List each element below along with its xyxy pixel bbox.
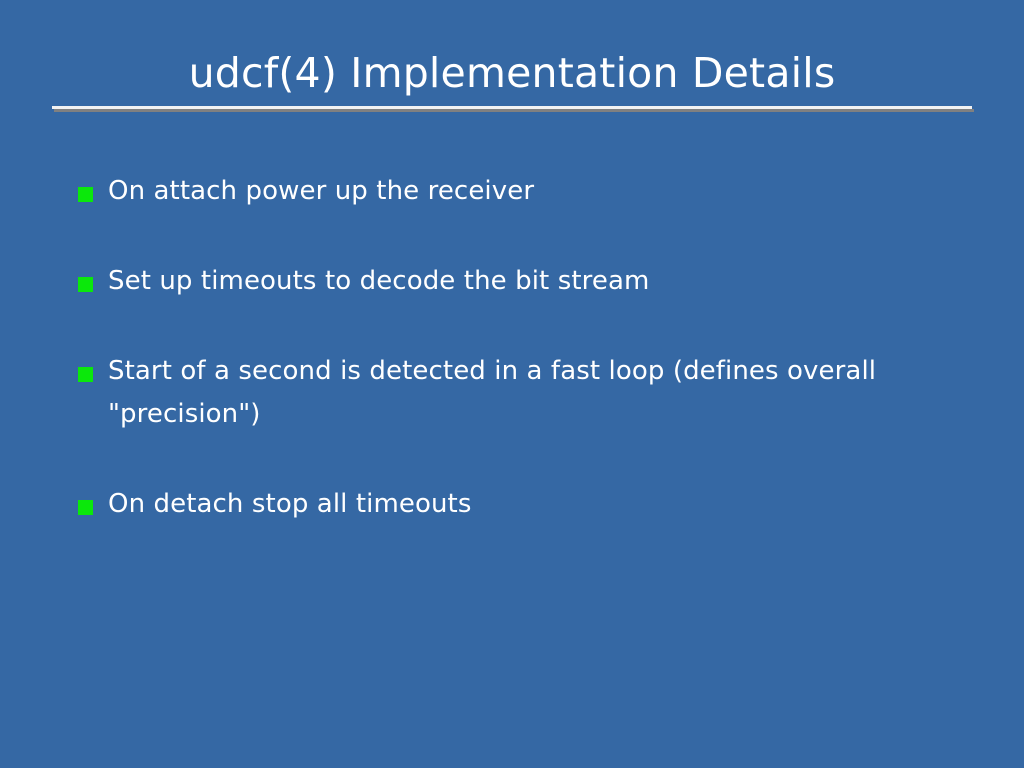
square-bullet-icon <box>78 500 93 515</box>
list-item-label: On detach stop all timeouts <box>108 483 968 526</box>
bullet-list: On attach power up the receiver Set up t… <box>78 170 968 526</box>
list-item-label: Set up timeouts to decode the bit stream <box>108 260 968 303</box>
title-divider <box>52 106 972 111</box>
list-item: On attach power up the receiver <box>78 170 968 213</box>
list-item: Start of a second is detected in a fast … <box>78 350 968 436</box>
square-bullet-icon <box>78 187 93 202</box>
list-item-label: Start of a second is detected in a fast … <box>108 350 968 436</box>
list-item-label: On attach power up the receiver <box>108 170 968 213</box>
title-block: udcf(4) Implementation Details <box>52 48 972 111</box>
divider-shadow-line <box>54 109 974 112</box>
square-bullet-icon <box>78 367 93 382</box>
page-title: udcf(4) Implementation Details <box>52 48 972 98</box>
presentation-slide: udcf(4) Implementation Details On attach… <box>0 0 1024 768</box>
list-item: Set up timeouts to decode the bit stream <box>78 260 968 303</box>
square-bullet-icon <box>78 277 93 292</box>
list-item: On detach stop all timeouts <box>78 483 968 526</box>
